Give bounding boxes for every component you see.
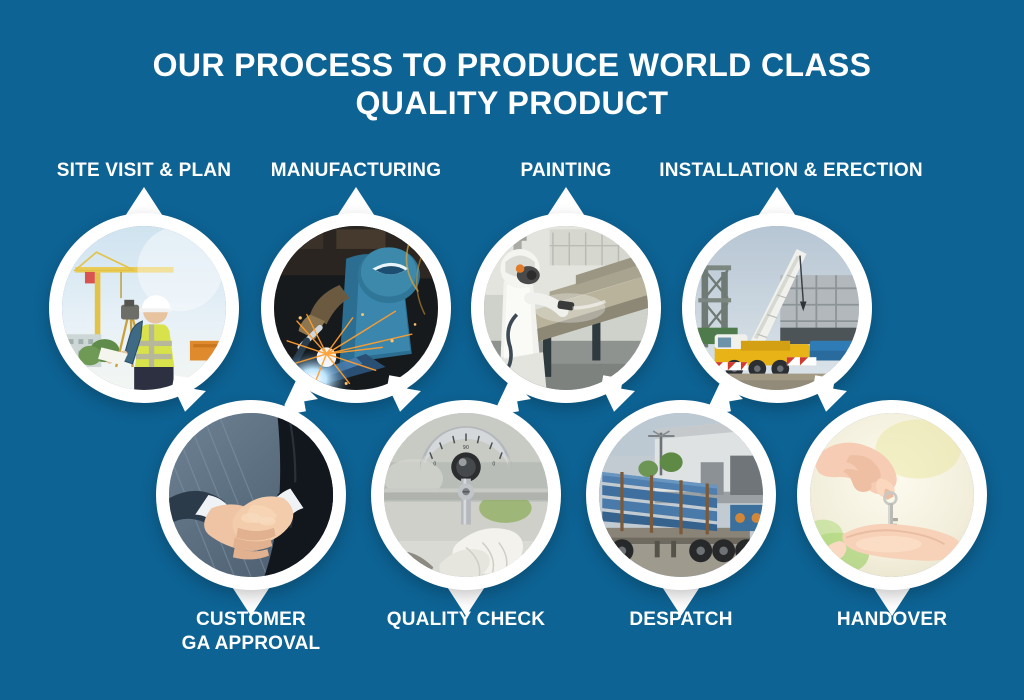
step-node-installation-erection[interactable] bbox=[682, 213, 872, 403]
step-node-handover[interactable] bbox=[797, 400, 987, 590]
step-image-key-handover bbox=[810, 413, 974, 577]
step-node-customer-ga-approval[interactable] bbox=[156, 400, 346, 590]
svg-text:0: 0 bbox=[492, 461, 495, 467]
step-label-site-visit-plan: SITE VISIT & PLAN bbox=[48, 159, 240, 183]
step-label-painting: PAINTING bbox=[470, 159, 662, 183]
step-node-site-visit-plan[interactable] bbox=[49, 213, 239, 403]
step-image-angle-gauge-inspection: 0900 bbox=[384, 413, 548, 577]
step-image-construction-site-surveyor bbox=[62, 226, 226, 390]
svg-text:90: 90 bbox=[463, 445, 469, 451]
step-node-painting[interactable] bbox=[471, 213, 661, 403]
step-image-loaded-truck-trailer bbox=[599, 413, 763, 577]
step-image-welder-sparks bbox=[274, 226, 438, 390]
step-node-quality-check[interactable]: 0900 bbox=[371, 400, 561, 590]
step-node-manufacturing[interactable] bbox=[261, 213, 451, 403]
process-flow-diagram: SITE VISIT & PLAN MANUFACTURING PAINTING… bbox=[0, 0, 1024, 700]
svg-text:0: 0 bbox=[433, 461, 436, 467]
step-node-despatch[interactable] bbox=[586, 400, 776, 590]
step-image-business-handshake bbox=[169, 413, 333, 577]
step-label-installation-erection: INSTALLATION & ERECTION bbox=[645, 159, 937, 183]
step-image-mobile-crane-erection bbox=[695, 226, 859, 390]
step-image-spray-painting-beam bbox=[484, 226, 648, 390]
step-label-manufacturing: MANUFACTURING bbox=[258, 159, 454, 183]
